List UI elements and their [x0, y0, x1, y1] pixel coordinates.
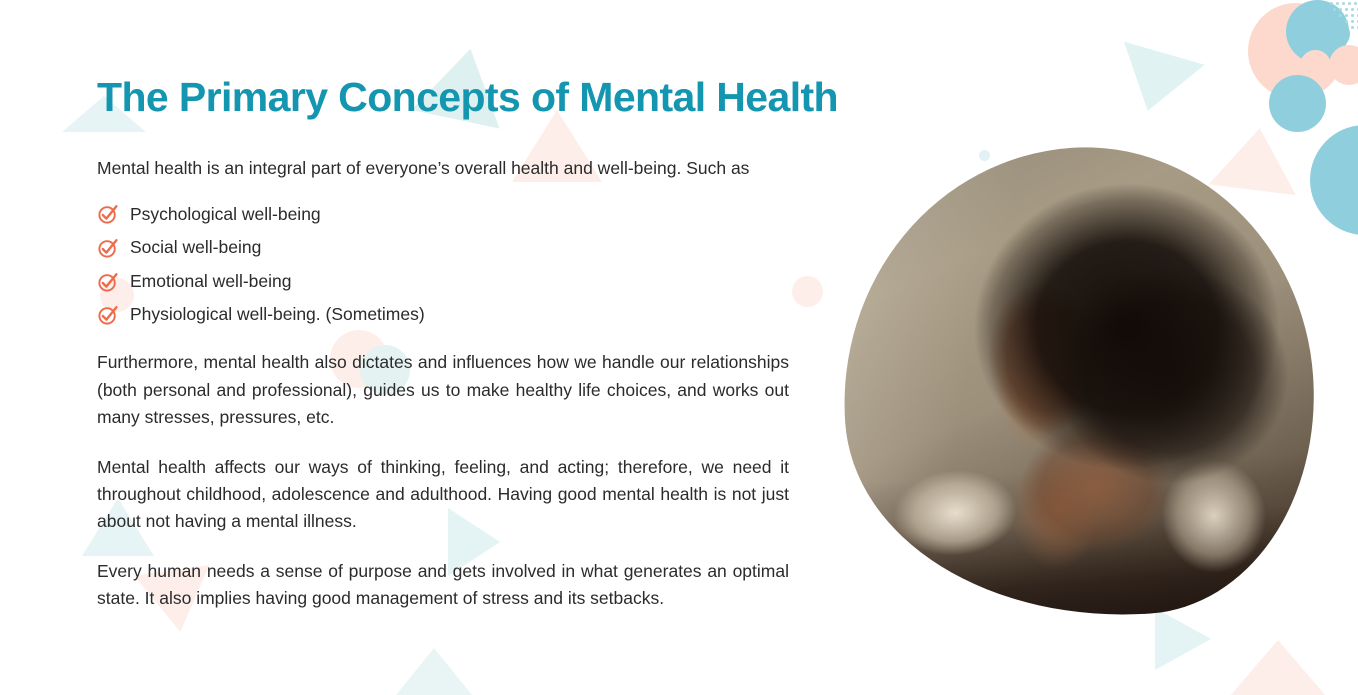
decor-triangle-pink-left-bottom — [392, 648, 476, 695]
list-item: Psychological well-being — [97, 203, 797, 227]
slide-content: The Primary Concepts of Mental Health Me… — [97, 74, 797, 613]
portrait-photo-container — [843, 148, 1313, 618]
decor-circle-teal-xlarge — [1310, 125, 1358, 235]
check-circle-icon — [97, 304, 119, 326]
decor-circle-peach-large — [1248, 3, 1344, 99]
list-item-label: Physiological well-being. (Sometimes) — [130, 303, 425, 327]
slide-canvas: The Primary Concepts of Mental Health Me… — [0, 0, 1358, 695]
decor-triangle-teal-right-of-title — [1107, 42, 1204, 123]
check-circle-icon — [97, 271, 119, 293]
check-circle-icon — [97, 237, 119, 259]
decor-circle-teal-mid — [1269, 75, 1326, 132]
list-item: Physiological well-being. (Sometimes) — [97, 303, 797, 327]
decor-circle-teal-medium — [1286, 0, 1349, 63]
body-paragraph-2: Mental health affects our ways of thinki… — [97, 454, 789, 536]
portrait-pensive-woman-photo — [827, 132, 1329, 634]
body-paragraph-1: Furthermore, mental health also dictates… — [97, 349, 789, 431]
page-title: The Primary Concepts of Mental Health — [97, 74, 797, 121]
decor-dot-grid — [1330, 2, 1358, 28]
decor-circle-peach-small — [1300, 50, 1331, 81]
list-item-label: Social well-being — [130, 236, 261, 260]
list-item: Emotional well-being — [97, 270, 797, 294]
body-paragraph-3: Every human needs a sense of purpose and… — [97, 558, 789, 613]
portrait-photo-blob-mask — [827, 132, 1329, 634]
list-item-label: Emotional well-being — [130, 270, 291, 294]
check-circle-icon — [97, 203, 119, 225]
list-item-label: Psychological well-being — [130, 203, 321, 227]
intro-paragraph: Mental health is an integral part of eve… — [97, 155, 789, 182]
benefits-list: Psychological well-being Social well-bei… — [97, 203, 797, 328]
decor-circle-peach-medium — [1329, 45, 1358, 85]
decor-circle-teal-small — [1322, 20, 1350, 48]
decor-triangle-pink-under-photo — [1218, 640, 1338, 695]
list-item: Social well-being — [97, 236, 797, 260]
